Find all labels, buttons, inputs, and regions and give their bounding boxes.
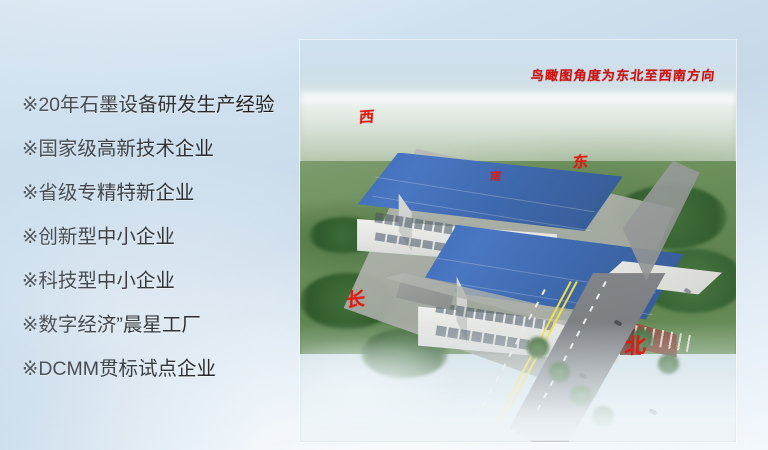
list-item: ※DCMM贯标试点企业 (22, 360, 314, 380)
credentials-list: ※20年石墨设备研发生产经验 ※国家级高新技术企业 ※省级专精特新企业 ※创新型… (22, 96, 314, 380)
list-item: ※省级专精特新企业 (22, 184, 314, 204)
direction-mark-west: 西 (358, 110, 374, 126)
photo-caption-text: 鸟瞰图角度为东北至西南方向 (530, 65, 717, 84)
left-fog-patch (300, 305, 501, 426)
list-item: ※20年石墨设备研发生产经验 (22, 96, 314, 116)
list-item: ※科技型中小企业 (22, 272, 314, 292)
aerial-rendering-image: 鸟瞰图角度为东北至西南方向 西 东 南 长 北 (300, 40, 736, 442)
direction-mark-length: 长 (345, 290, 365, 311)
list-item: ※国家级高新技术企业 (22, 140, 314, 160)
direction-mark-east: 东 (572, 154, 588, 170)
list-item: ※数字经济”晨星工厂 (22, 316, 314, 336)
slide-canvas: ※20年石墨设备研发生产经验 ※国家级高新技术企业 ※省级专精特新企业 ※创新型… (0, 0, 768, 450)
direction-mark-south: 南 (489, 170, 501, 182)
list-item: ※创新型中小企业 (22, 228, 314, 248)
direction-mark-north: 北 (624, 335, 646, 358)
